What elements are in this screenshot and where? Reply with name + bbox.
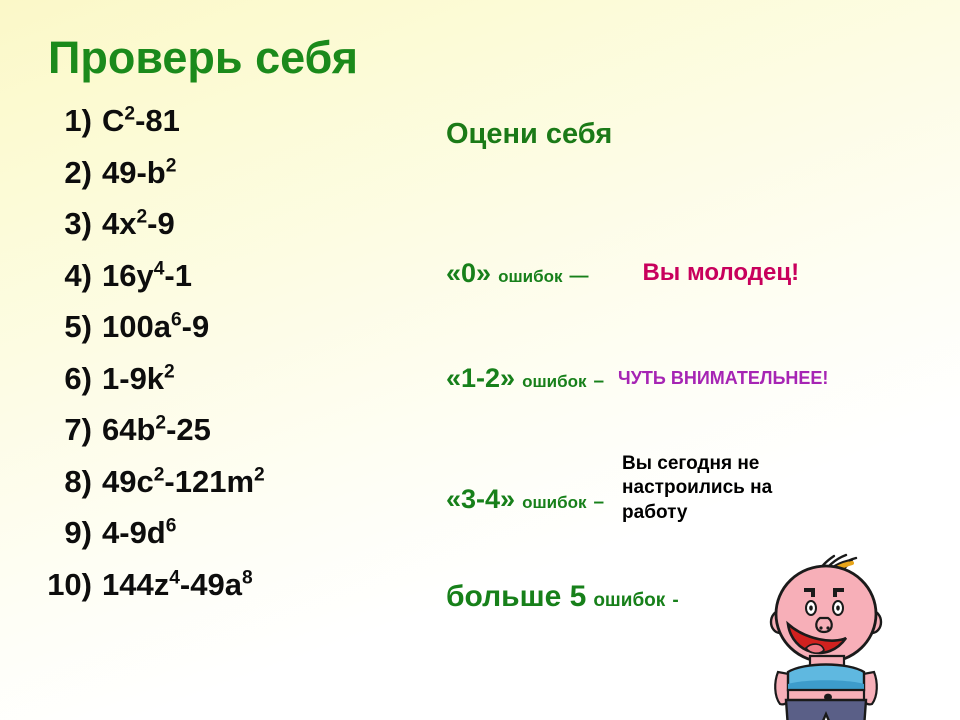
expr-exponent: 2 bbox=[164, 361, 175, 382]
task-number: 8) bbox=[40, 464, 102, 500]
expr-base: 4-9d bbox=[102, 515, 166, 550]
expr-exponent: 4 bbox=[169, 567, 180, 588]
grade-label: «1-2» ошибок – bbox=[446, 363, 604, 394]
task-expression: 16y4-1 bbox=[102, 258, 420, 294]
grade-dash: — bbox=[569, 266, 588, 288]
task-item: 6) 1-9k2 bbox=[40, 361, 420, 413]
task-expression: C2-81 bbox=[102, 103, 420, 139]
grade-label: больше 5 ошибок - bbox=[446, 580, 679, 614]
grade-count: «0» bbox=[446, 258, 491, 289]
task-number: 1) bbox=[40, 103, 102, 139]
expr-base: 4x bbox=[102, 206, 136, 241]
task-expression: 4-9d6 bbox=[102, 515, 420, 551]
grade-word: ошибок bbox=[522, 493, 586, 513]
page-title: Проверь себя bbox=[48, 32, 358, 84]
expr-base: 144z bbox=[102, 567, 169, 602]
expr-tail: -121m bbox=[164, 464, 254, 499]
expr-exponent-2: 8 bbox=[242, 567, 253, 588]
task-number: 2) bbox=[40, 155, 102, 191]
slide-canvas: Проверь себя 1) C2-81 2) 49-b2 3) 4x2-9 … bbox=[0, 0, 960, 720]
grade-row: «1-2» ошибок – ЧУТЬ ВНИМАТЕЛЬНЕЕ! bbox=[446, 363, 833, 394]
task-number: 6) bbox=[40, 361, 102, 397]
expr-exponent: 2 bbox=[166, 155, 177, 176]
task-item: 5) 100a6-9 bbox=[40, 309, 420, 361]
expr-base: 49-b bbox=[102, 155, 166, 190]
expr-tail: -9 bbox=[147, 206, 175, 241]
task-number: 5) bbox=[40, 309, 102, 345]
grade-word: ошибок bbox=[498, 267, 562, 287]
expr-exponent: 2 bbox=[155, 413, 166, 434]
expr-exponent-2: 2 bbox=[254, 464, 265, 485]
expr-tail: -49a bbox=[180, 567, 242, 602]
grade-dash: – bbox=[593, 371, 604, 393]
task-item: 10) 144z4-49a8 bbox=[40, 567, 420, 619]
assessment-heading: Оцени себя bbox=[446, 118, 612, 151]
task-item: 4) 16y4-1 bbox=[40, 258, 420, 310]
expr-exponent: 6 bbox=[166, 516, 177, 537]
expr-base: 64b bbox=[102, 412, 155, 447]
expr-tail: -1 bbox=[164, 258, 192, 293]
expr-base: 1-9k bbox=[102, 361, 164, 396]
task-expression: 100a6-9 bbox=[102, 309, 420, 345]
grade-label: «3-4» ошибок – bbox=[446, 484, 604, 515]
task-item: 1) C2-81 bbox=[40, 103, 420, 155]
task-expression: 49-b2 bbox=[102, 155, 420, 191]
grade-dash: - bbox=[672, 590, 678, 612]
task-item: 3) 4x2-9 bbox=[40, 206, 420, 258]
task-number: 10) bbox=[40, 567, 102, 603]
task-number: 3) bbox=[40, 206, 102, 242]
expr-exponent: 2 bbox=[154, 464, 165, 485]
grade-word: ошибок bbox=[593, 590, 665, 612]
expr-base: 16y bbox=[102, 258, 154, 293]
task-item: 8) 49c2-121m2 bbox=[40, 464, 420, 516]
grade-verdict: Вы молодец! bbox=[642, 260, 799, 287]
task-item: 7) 64b2-25 bbox=[40, 412, 420, 464]
expr-exponent: 4 bbox=[154, 258, 165, 279]
cartoon-boy-icon bbox=[748, 548, 928, 720]
task-item: 2) 49-b2 bbox=[40, 155, 420, 207]
expr-base: C bbox=[102, 103, 124, 138]
task-expression: 4x2-9 bbox=[102, 206, 420, 242]
task-expression: 49c2-121m2 bbox=[102, 464, 420, 500]
grade-verdict: Вы сегодня не настроились на работу bbox=[622, 452, 797, 525]
grade-count: больше 5 bbox=[446, 580, 586, 614]
expr-exponent: 2 bbox=[136, 207, 147, 228]
grade-label: «0» ошибок — bbox=[446, 258, 588, 289]
grade-dash: – bbox=[593, 492, 604, 514]
expr-base: 49c bbox=[102, 464, 154, 499]
grade-count: «3-4» bbox=[446, 484, 515, 515]
grade-count: «1-2» bbox=[446, 363, 515, 394]
expr-tail: -81 bbox=[135, 103, 180, 138]
task-expression: 1-9k2 bbox=[102, 361, 420, 397]
expr-tail: -25 bbox=[166, 412, 211, 447]
grade-row: больше 5 ошибок - bbox=[446, 580, 679, 614]
grade-row: «3-4» ошибок – Вы сегодня не настроились… bbox=[446, 452, 797, 525]
task-list: 1) C2-81 2) 49-b2 3) 4x2-9 4) 16y4-1 5) … bbox=[40, 103, 420, 618]
expr-exponent: 6 bbox=[171, 310, 182, 331]
expr-tail: -9 bbox=[182, 309, 210, 344]
grade-word: ошибок bbox=[522, 372, 586, 392]
expr-base: 100a bbox=[102, 309, 171, 344]
grade-verdict: ЧУТЬ ВНИМАТЕЛЬНЕЕ! bbox=[618, 368, 833, 388]
task-number: 9) bbox=[40, 515, 102, 551]
expr-exponent: 2 bbox=[124, 104, 135, 125]
task-number: 7) bbox=[40, 412, 102, 448]
task-number: 4) bbox=[40, 258, 102, 294]
task-item: 9) 4-9d6 bbox=[40, 515, 420, 567]
grade-row: «0» ошибок — Вы молодец! bbox=[446, 258, 799, 289]
task-expression: 144z4-49a8 bbox=[102, 567, 420, 603]
task-expression: 64b2-25 bbox=[102, 412, 420, 448]
